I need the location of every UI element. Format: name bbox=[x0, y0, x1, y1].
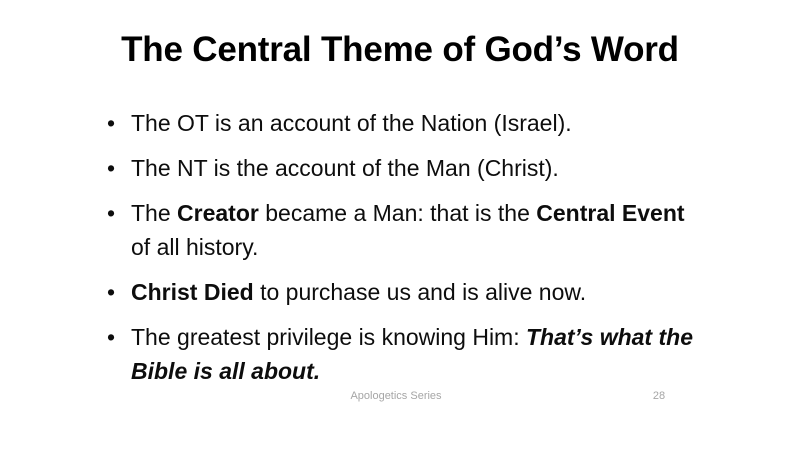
text-run: The greatest privilege is knowing Him: bbox=[131, 324, 526, 350]
bullet-dot-icon: • bbox=[107, 320, 115, 354]
list-item: •The Creator became a Man: that is the C… bbox=[104, 196, 704, 264]
text-run: became a Man: that is the bbox=[259, 200, 536, 226]
page-title: The Central Theme of God’s Word bbox=[40, 28, 760, 72]
bullet-dot-icon: • bbox=[107, 196, 115, 230]
list-item: •The greatest privilege is knowing Him: … bbox=[104, 320, 704, 388]
list-item-text: The Creator became a Man: that is the Ce… bbox=[131, 200, 685, 260]
slide-body-block: •The OT is an account of the Nation (Isr… bbox=[104, 106, 704, 388]
bullet-dot-icon: • bbox=[107, 106, 115, 140]
text-run: Creator bbox=[177, 200, 259, 226]
text-run: The bbox=[131, 200, 177, 226]
bullet-dot-icon: • bbox=[107, 151, 115, 185]
list-item: •The NT is the account of the Man (Chris… bbox=[104, 151, 704, 185]
list-item-text: The greatest privilege is knowing Him: T… bbox=[131, 324, 693, 384]
text-run: to purchase us and is alive now. bbox=[254, 279, 586, 305]
list-item-text: Christ Died to purchase us and is alive … bbox=[131, 279, 586, 305]
slide-title-block: The Central Theme of God’s Word bbox=[40, 28, 760, 72]
text-run: The NT is the account of the Man (Christ… bbox=[131, 155, 559, 181]
text-run: The OT is an account of the Nation (Isra… bbox=[131, 110, 572, 136]
slide-footer: Apologetics Series 28 bbox=[0, 388, 800, 406]
list-item: •Christ Died to purchase us and is alive… bbox=[104, 275, 704, 309]
text-run: Central Event bbox=[536, 200, 684, 226]
list-item-text: The OT is an account of the Nation (Isra… bbox=[131, 110, 572, 136]
footer-page-number: 28 bbox=[612, 388, 706, 404]
bullet-dot-icon: • bbox=[107, 275, 115, 309]
text-run: of all history. bbox=[131, 234, 258, 260]
footer-series-label: Apologetics Series bbox=[296, 388, 496, 404]
bullet-list: •The OT is an account of the Nation (Isr… bbox=[104, 106, 704, 388]
list-item-text: The NT is the account of the Man (Christ… bbox=[131, 155, 559, 181]
list-item: •The OT is an account of the Nation (Isr… bbox=[104, 106, 704, 140]
text-run: Christ Died bbox=[131, 279, 254, 305]
slide-canvas: The Central Theme of God’s Word •The OT … bbox=[0, 0, 800, 450]
